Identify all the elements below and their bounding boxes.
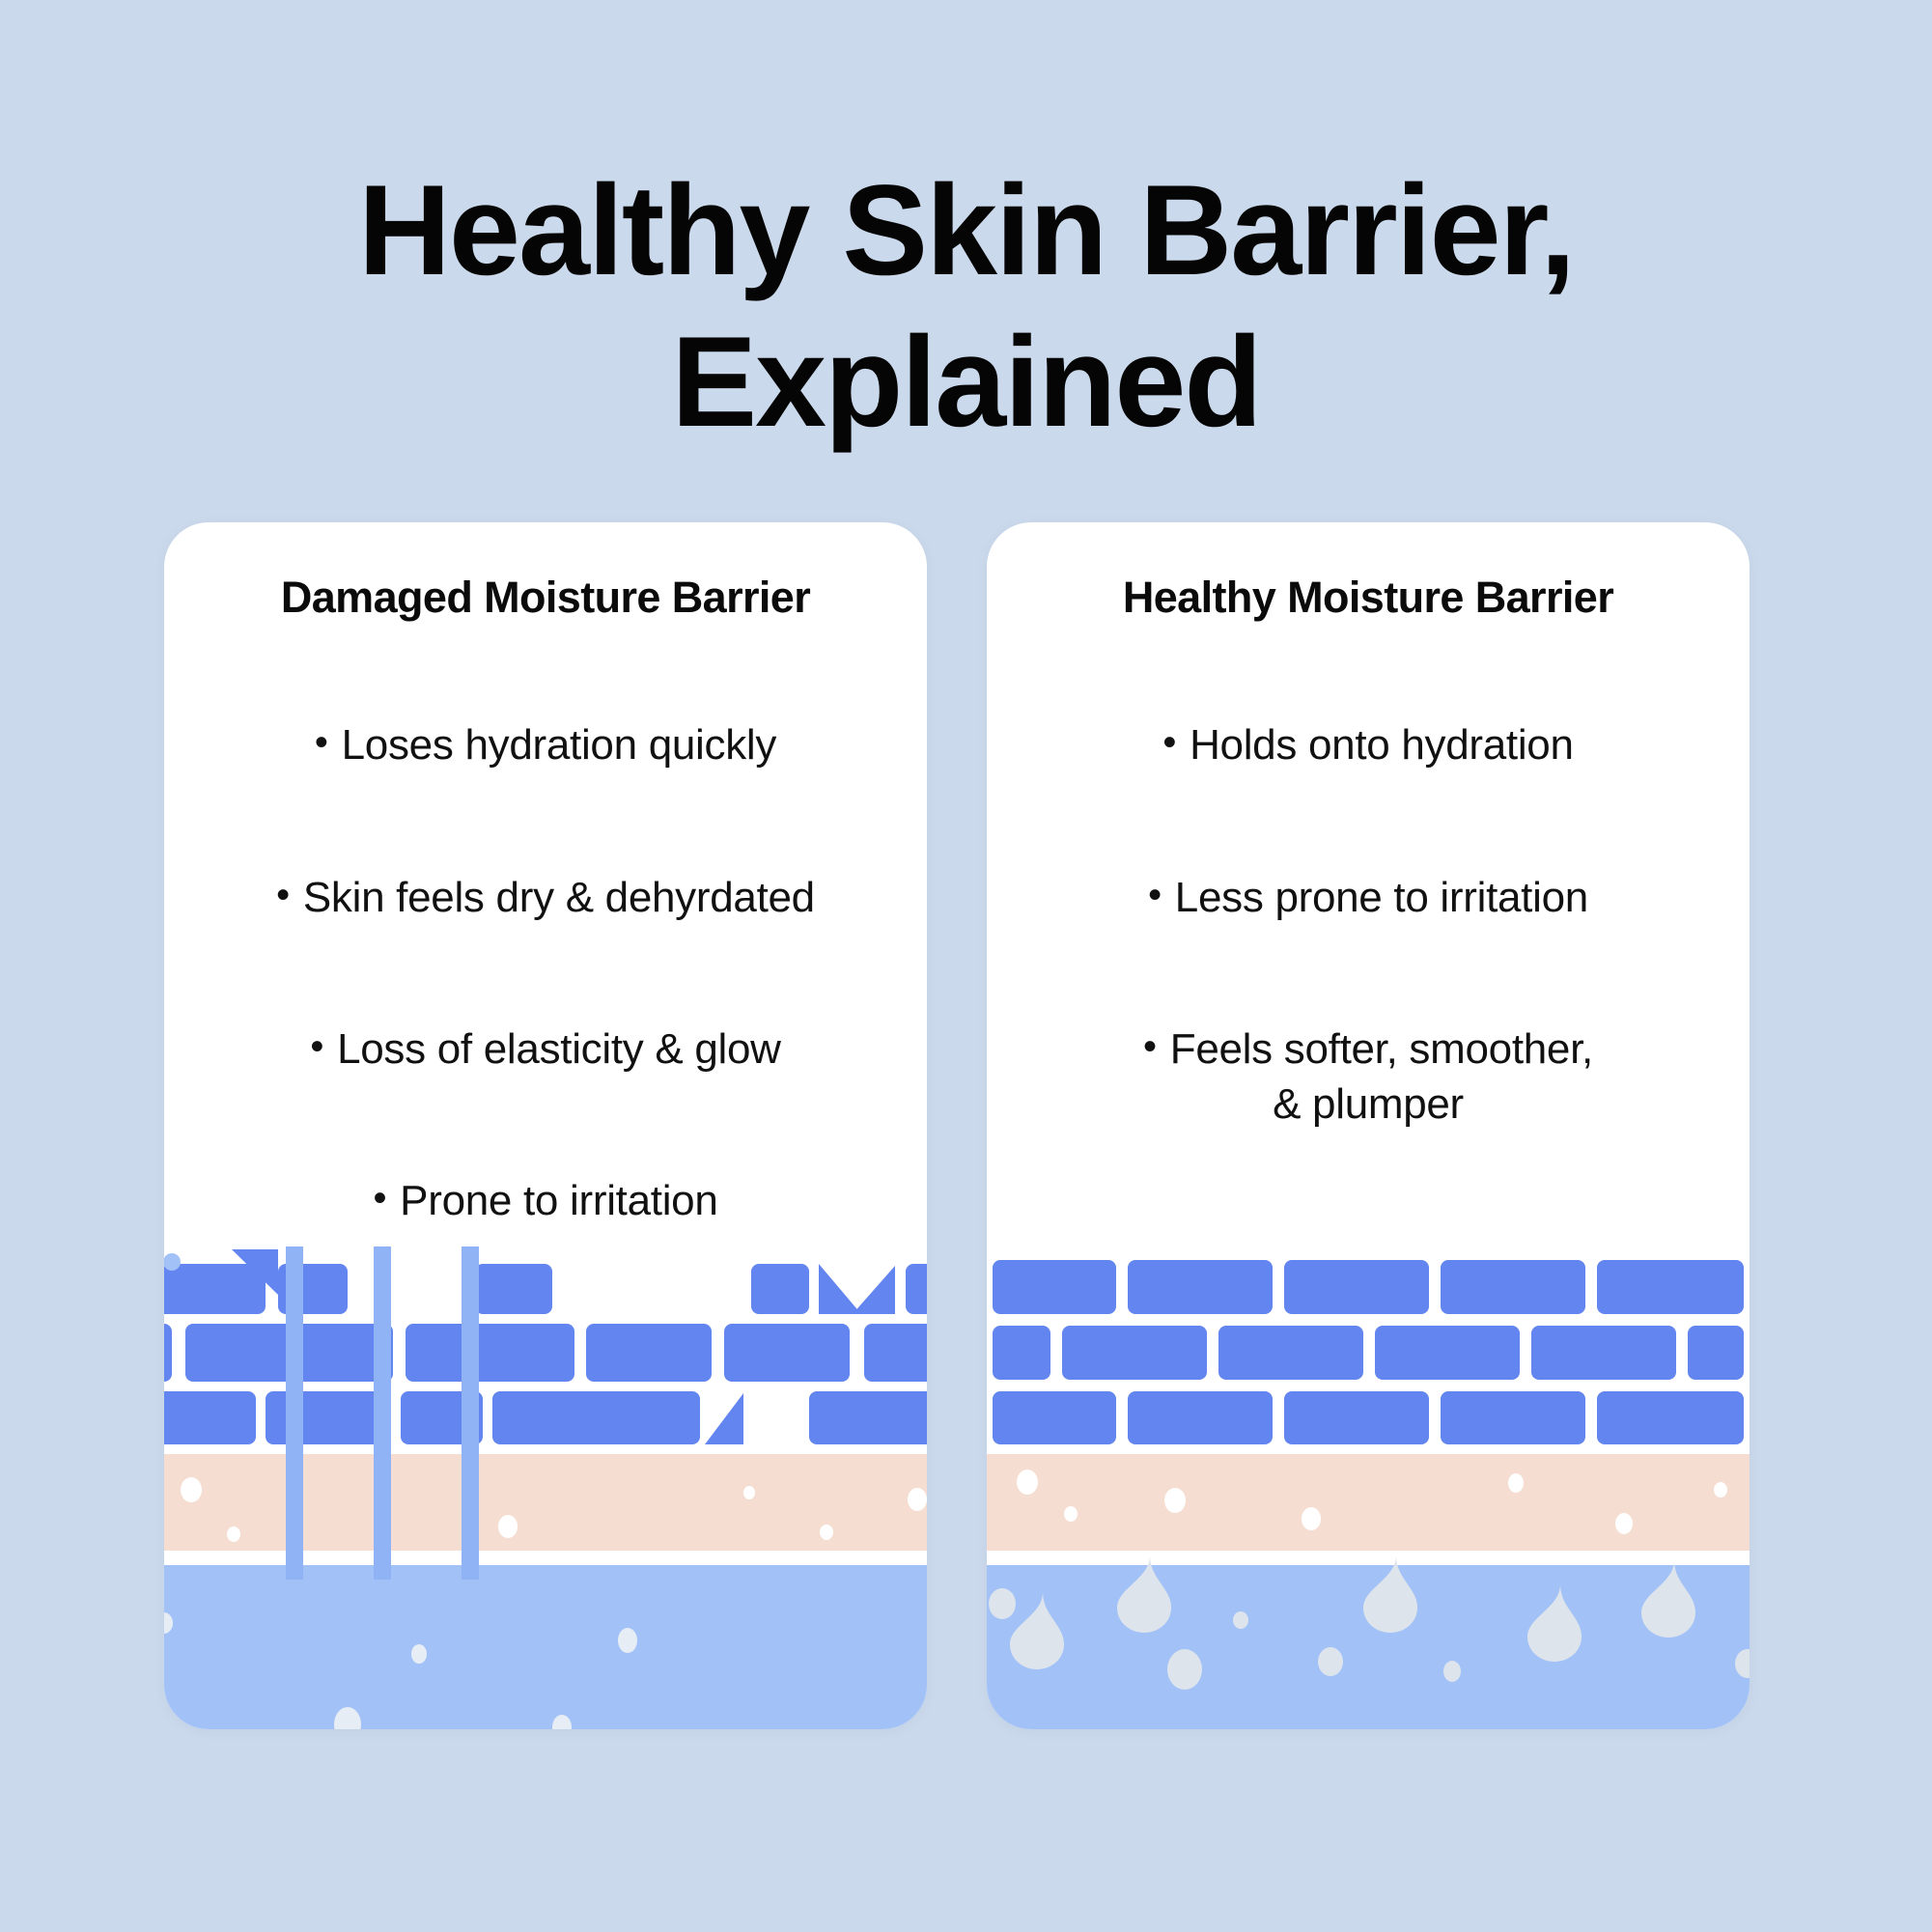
list-item-label: Holds onto hydration [1190, 721, 1574, 769]
speck [1302, 1507, 1321, 1530]
brick [1128, 1260, 1273, 1314]
speck [1615, 1513, 1633, 1534]
hypodermis-layer [987, 1565, 1750, 1729]
brick [993, 1391, 1116, 1444]
speck [1443, 1661, 1461, 1682]
brick [1688, 1326, 1744, 1380]
brick [1375, 1326, 1520, 1380]
speck [1714, 1482, 1727, 1498]
bullet-dot-icon: • [1143, 1027, 1157, 1066]
brick [751, 1264, 809, 1314]
brick [809, 1391, 927, 1444]
speck [989, 1588, 1016, 1619]
brick [492, 1391, 700, 1444]
brick [1441, 1391, 1585, 1444]
speck [1318, 1647, 1343, 1676]
speck [227, 1526, 240, 1542]
list-item-label: Feels softer, smoother, & plumper [1170, 1025, 1593, 1128]
bullet-list-healthy: •Holds onto hydration •Less prone to irr… [987, 662, 1750, 1173]
card-heading-healthy: Healthy Moisture Barrier [987, 573, 1750, 623]
comparison-cards: Damaged Moisture Barrier •Loses hydratio… [164, 522, 1749, 1729]
brick [1531, 1326, 1676, 1380]
brick [993, 1326, 1050, 1380]
speck [1064, 1506, 1078, 1522]
brick [993, 1260, 1116, 1314]
bullet-dot-icon: • [1148, 876, 1162, 914]
list-item-label: Loses hydration quickly [342, 721, 776, 769]
brick [1597, 1391, 1744, 1444]
brick [1128, 1391, 1273, 1444]
list-item: •Loses hydration quickly [164, 662, 927, 772]
bullet-list-damaged: •Loses hydration quickly •Skin feels dry… [164, 662, 927, 1271]
speck [411, 1644, 427, 1664]
list-item-label: Skin feels dry & dehyrdated [303, 874, 815, 921]
list-item-label: Prone to irritation [400, 1177, 717, 1224]
brick [1441, 1260, 1585, 1314]
speck [1233, 1611, 1248, 1629]
speck [908, 1488, 927, 1511]
card-heading-damaged: Damaged Moisture Barrier [164, 573, 927, 623]
speck [618, 1628, 637, 1653]
brick [1284, 1391, 1429, 1444]
list-item: •Prone to irritation [164, 1118, 927, 1228]
card-damaged-moisture-barrier: Damaged Moisture Barrier •Loses hydratio… [164, 522, 927, 1729]
broken-brick-triangle [819, 1264, 861, 1314]
list-item-label: Less prone to irritation [1175, 874, 1588, 921]
speck [1017, 1470, 1038, 1495]
speck [1164, 1488, 1186, 1513]
speck [1167, 1649, 1202, 1690]
speck [820, 1525, 833, 1540]
brick [475, 1264, 552, 1314]
brick [586, 1324, 712, 1382]
bullet-dot-icon: • [1162, 723, 1176, 762]
list-item: •Feels softer, smoother, & plumper [987, 966, 1750, 1133]
list-item-label: Loss of elasticity & glow [337, 1025, 781, 1073]
speck [743, 1486, 755, 1499]
broken-brick-triangle [853, 1266, 895, 1314]
brick [266, 1391, 391, 1444]
dermis-layer [987, 1454, 1750, 1551]
bullet-dot-icon: • [373, 1179, 386, 1218]
bullet-dot-icon: • [315, 723, 328, 762]
speck [498, 1515, 518, 1538]
list-item: •Loss of elasticity & glow [164, 966, 927, 1077]
brick [1218, 1326, 1363, 1380]
healthy-barrier-diagram [987, 1246, 1750, 1729]
brick [724, 1324, 850, 1382]
list-item: •Holds onto hydration [987, 662, 1750, 772]
damaged-barrier-diagram [164, 1246, 927, 1729]
bullet-dot-icon: • [276, 876, 290, 914]
hypodermis-layer [164, 1565, 927, 1729]
brick [864, 1324, 927, 1382]
brick [164, 1391, 256, 1444]
brick [1062, 1326, 1207, 1380]
dermis-layer [164, 1454, 927, 1551]
list-item: •Less prone to irritation [987, 814, 1750, 924]
brick [164, 1324, 172, 1382]
brick [164, 1264, 266, 1314]
page-title: Healthy Skin Barrier, Explained [0, 155, 1932, 459]
speck [181, 1477, 202, 1502]
brick [406, 1324, 574, 1382]
brick [1284, 1260, 1429, 1314]
speck [1508, 1473, 1524, 1493]
card-healthy-moisture-barrier: Healthy Moisture Barrier •Holds onto hyd… [987, 522, 1750, 1729]
brick [906, 1264, 927, 1314]
brick [1597, 1260, 1744, 1314]
bullet-dot-icon: • [310, 1027, 323, 1066]
list-item: •Skin feels dry & dehyrdated [164, 814, 927, 924]
